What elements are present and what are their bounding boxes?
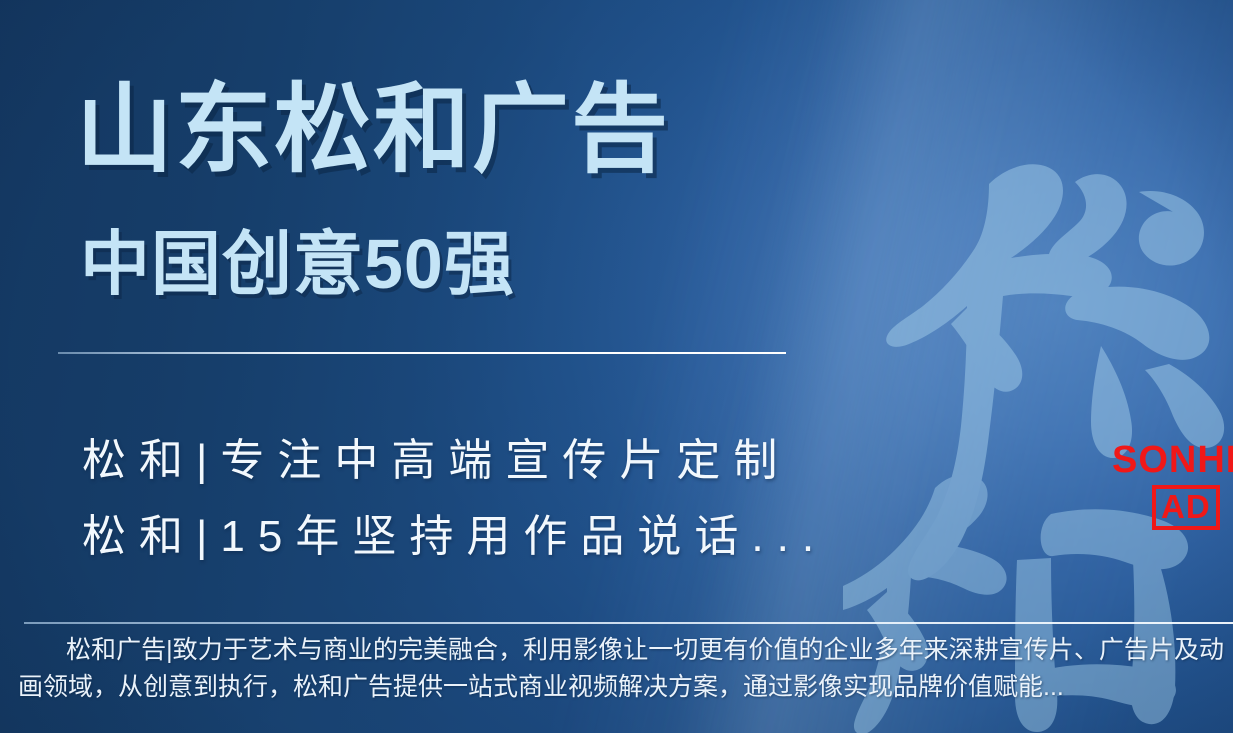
company-logo: SONHE AD — [1112, 441, 1233, 530]
tagline-secondary: 松和|15年坚持用作品说话... — [82, 500, 827, 564]
advertising-banner: 山东松和广告 中国创意50强 松和|专注中高端宣传片定制 松和|15年坚持用作品… — [0, 0, 1233, 733]
logo-ad-badge: AD — [1152, 485, 1220, 530]
divider-top — [58, 352, 786, 354]
tagline-primary: 松和|专注中高端宣传片定制 — [82, 424, 790, 488]
page-title: 山东松和广告 — [76, 78, 670, 183]
logo-wordmark: SONHE — [1112, 441, 1233, 479]
company-description: 松和广告|致力于艺术与商业的完美融合，利用影像让一切更有价值的企业多年来深耕宣传… — [18, 632, 1224, 706]
page-subtitle: 中国创意50强 — [80, 226, 515, 303]
divider-bottom — [24, 622, 1233, 624]
company-description-text: 松和广告|致力于艺术与商业的完美融合，利用影像让一切更有价值的企业多年来深耕宣传… — [18, 636, 1224, 701]
